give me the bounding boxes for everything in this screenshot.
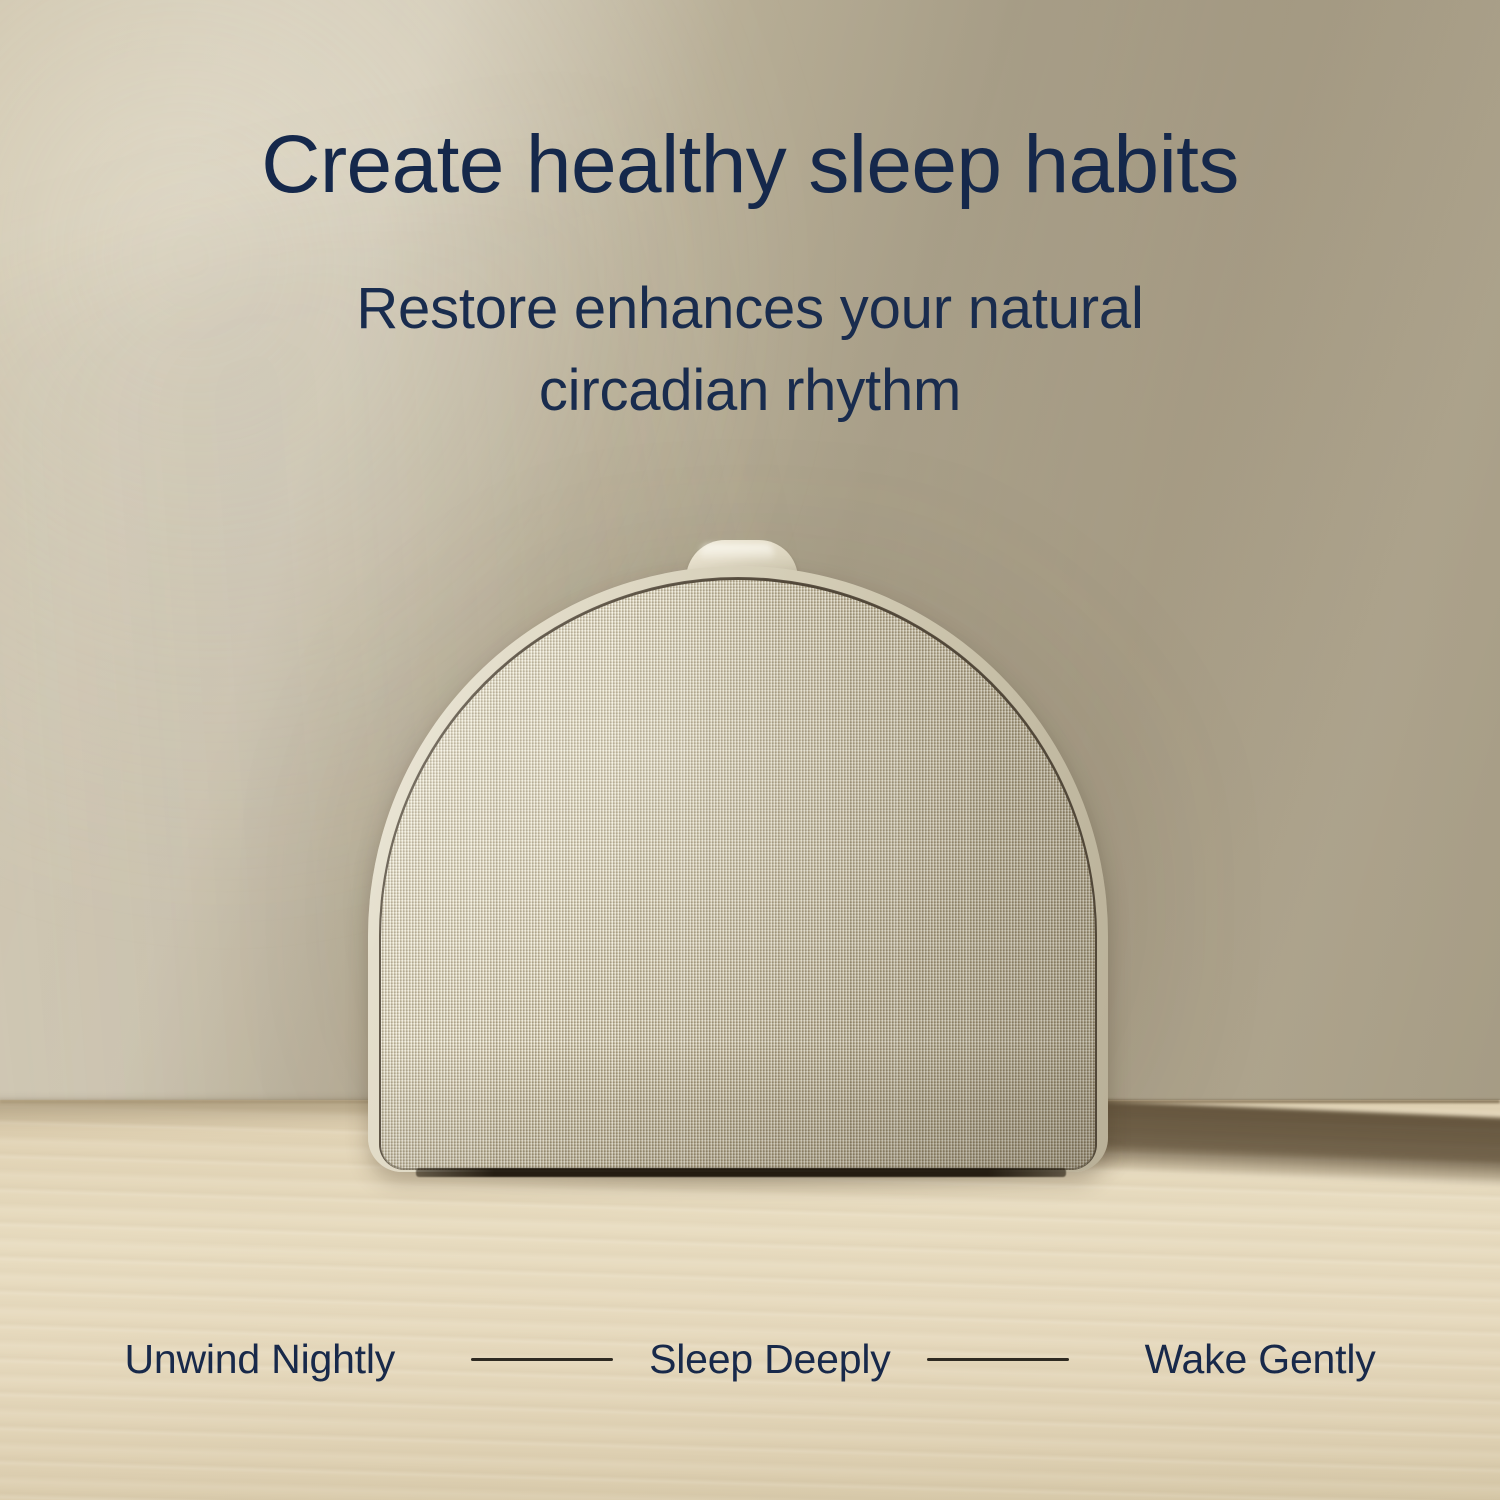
- product-hero-scene: Create healthy sleep habits Restore enha…: [0, 0, 1500, 1500]
- benefit-divider-1: [471, 1358, 613, 1361]
- page-subtitle-line-1: Restore enhances your natural: [250, 268, 1250, 350]
- page-subtitle-line-2: circadian rhythm: [250, 350, 1250, 432]
- benefit-label-wake-gently: Wake Gently: [1145, 1336, 1376, 1383]
- benefit-label-unwind-nightly: Unwind Nightly: [124, 1336, 395, 1383]
- page-title: Create healthy sleep habits: [0, 124, 1500, 206]
- benefit-label-sleep-deeply: Sleep Deeply: [649, 1336, 890, 1383]
- restore-sleep-device[interactable]: [368, 566, 1108, 1172]
- dome-button-highlight: [700, 544, 774, 562]
- benefit-divider-2: [927, 1358, 1069, 1361]
- device-base-shadow: [416, 1168, 1066, 1177]
- page-subtitle: Restore enhances your natural circadian …: [250, 268, 1250, 433]
- device-cast-shadow-left: [0, 1100, 420, 1126]
- benefit-strip: Unwind Nightly Sleep Deeply Wake Gently: [0, 1326, 1500, 1392]
